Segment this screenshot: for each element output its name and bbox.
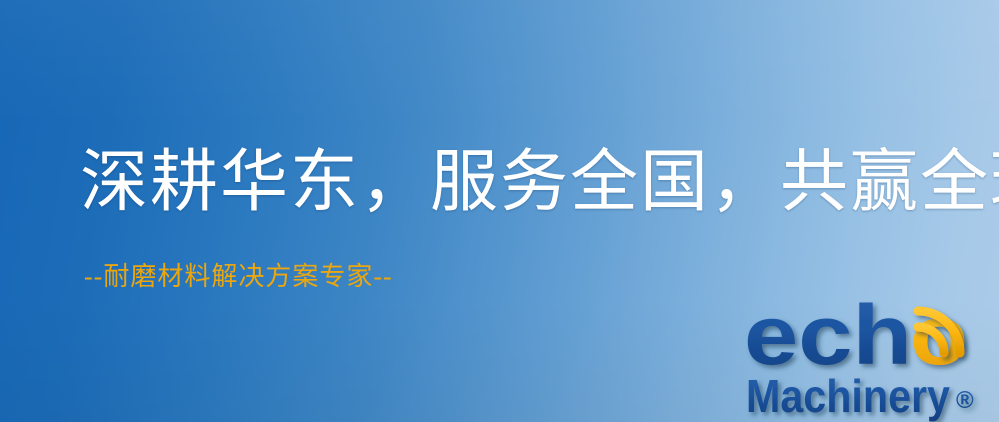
logo-ech-text: ech (744, 288, 912, 382)
banner-subtitle: --耐磨材料解决方案专家-- (84, 264, 393, 290)
logo-wordmark-ech: ech (744, 288, 912, 382)
company-logo[interactable]: ech o Machinery ® (742, 296, 999, 422)
logo-machinery-text: Machinery (746, 370, 950, 422)
logo-tagline: Machinery ® (746, 370, 974, 422)
page-title: 深耕华东，服务全国，共赢全球 (80, 148, 999, 216)
hero-banner: 深耕华东，服务全国，共赢全球 --耐磨材料解决方案专家-- (0, 0, 999, 422)
registered-trademark-icon: ® (956, 387, 974, 414)
